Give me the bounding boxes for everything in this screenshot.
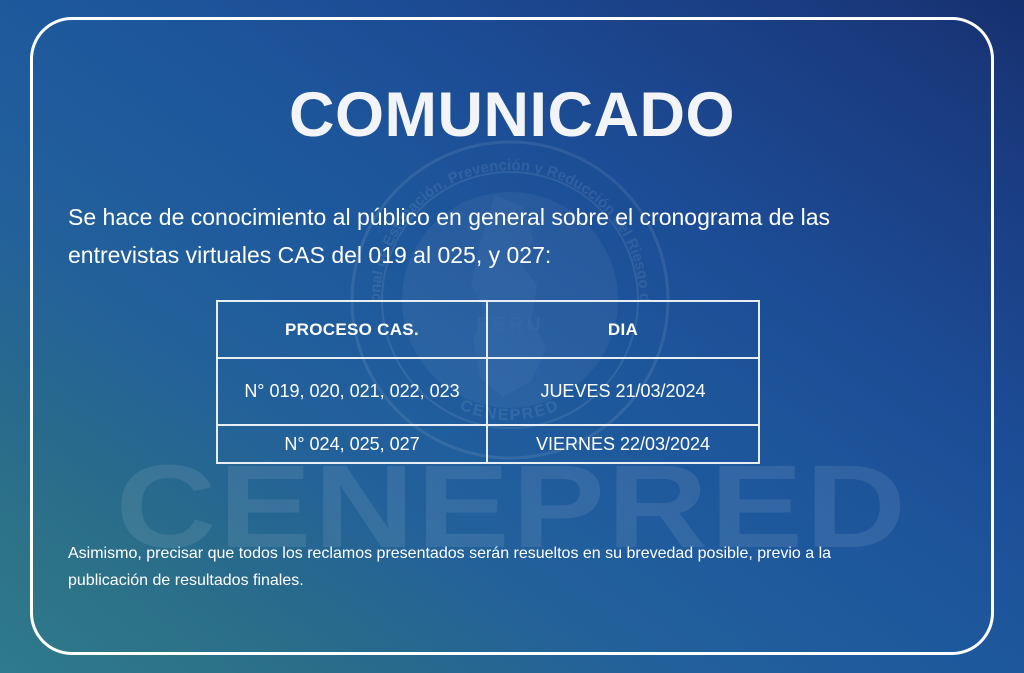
column-header-proceso: PROCESO CAS. (217, 301, 487, 358)
column-header-dia: DIA (487, 301, 759, 358)
table-header-row: PROCESO CAS. DIA (217, 301, 759, 358)
cell-dia: VIERNES 22/03/2024 (487, 425, 759, 463)
note-line-1: Asimismo, precisar que todos los reclamo… (68, 540, 952, 567)
comunicado-poster: Centro Nacional de Estimación, Prevenció… (0, 0, 1024, 673)
note-paragraph: Asimismo, precisar que todos los reclamo… (68, 540, 952, 594)
table-row: N° 019, 020, 021, 022, 023 JUEVES 21/03/… (217, 358, 759, 425)
cell-dia: JUEVES 21/03/2024 (487, 358, 759, 425)
cell-proceso: N° 024, 025, 027 (217, 425, 487, 463)
note-line-2: publicación de resultados finales. (68, 567, 952, 594)
schedule-table-wrapper: PROCESO CAS. DIA N° 019, 020, 021, 022, … (216, 300, 758, 464)
page-title: COMUNICADO (0, 84, 1024, 147)
table-row: N° 024, 025, 027 VIERNES 22/03/2024 (217, 425, 759, 463)
lead-paragraph: Se hace de conocimiento al público en ge… (68, 198, 952, 274)
lead-line-2: entrevistas virtuales CAS del 019 al 025… (68, 236, 952, 274)
schedule-table: PROCESO CAS. DIA N° 019, 020, 021, 022, … (216, 300, 760, 464)
lead-line-1: Se hace de conocimiento al público en ge… (68, 198, 952, 236)
cell-proceso: N° 019, 020, 021, 022, 023 (217, 358, 487, 425)
poster-content: COMUNICADO Se hace de conocimiento al pú… (0, 0, 1024, 673)
